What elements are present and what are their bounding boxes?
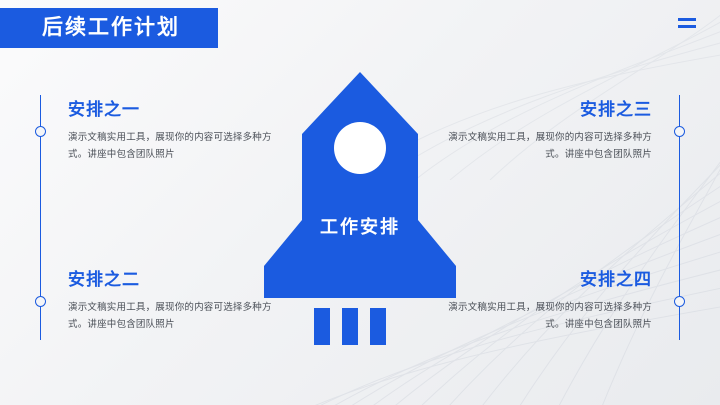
timeline-node-2 <box>35 296 46 307</box>
hamburger-menu-icon[interactable] <box>678 18 696 32</box>
page-title: 后续工作计划 <box>42 14 180 42</box>
timeline-node-1 <box>35 126 46 137</box>
timeline-node-4 <box>674 296 685 307</box>
timeline-node-3 <box>674 126 685 137</box>
rocket-icon <box>250 70 470 345</box>
slide: 后续工作计划 安排之一 演示文稿实用工具，展现你的内容可选择多种方式。讲座中包含… <box>0 0 720 405</box>
rocket-center-label: 工作安排 <box>320 213 400 239</box>
